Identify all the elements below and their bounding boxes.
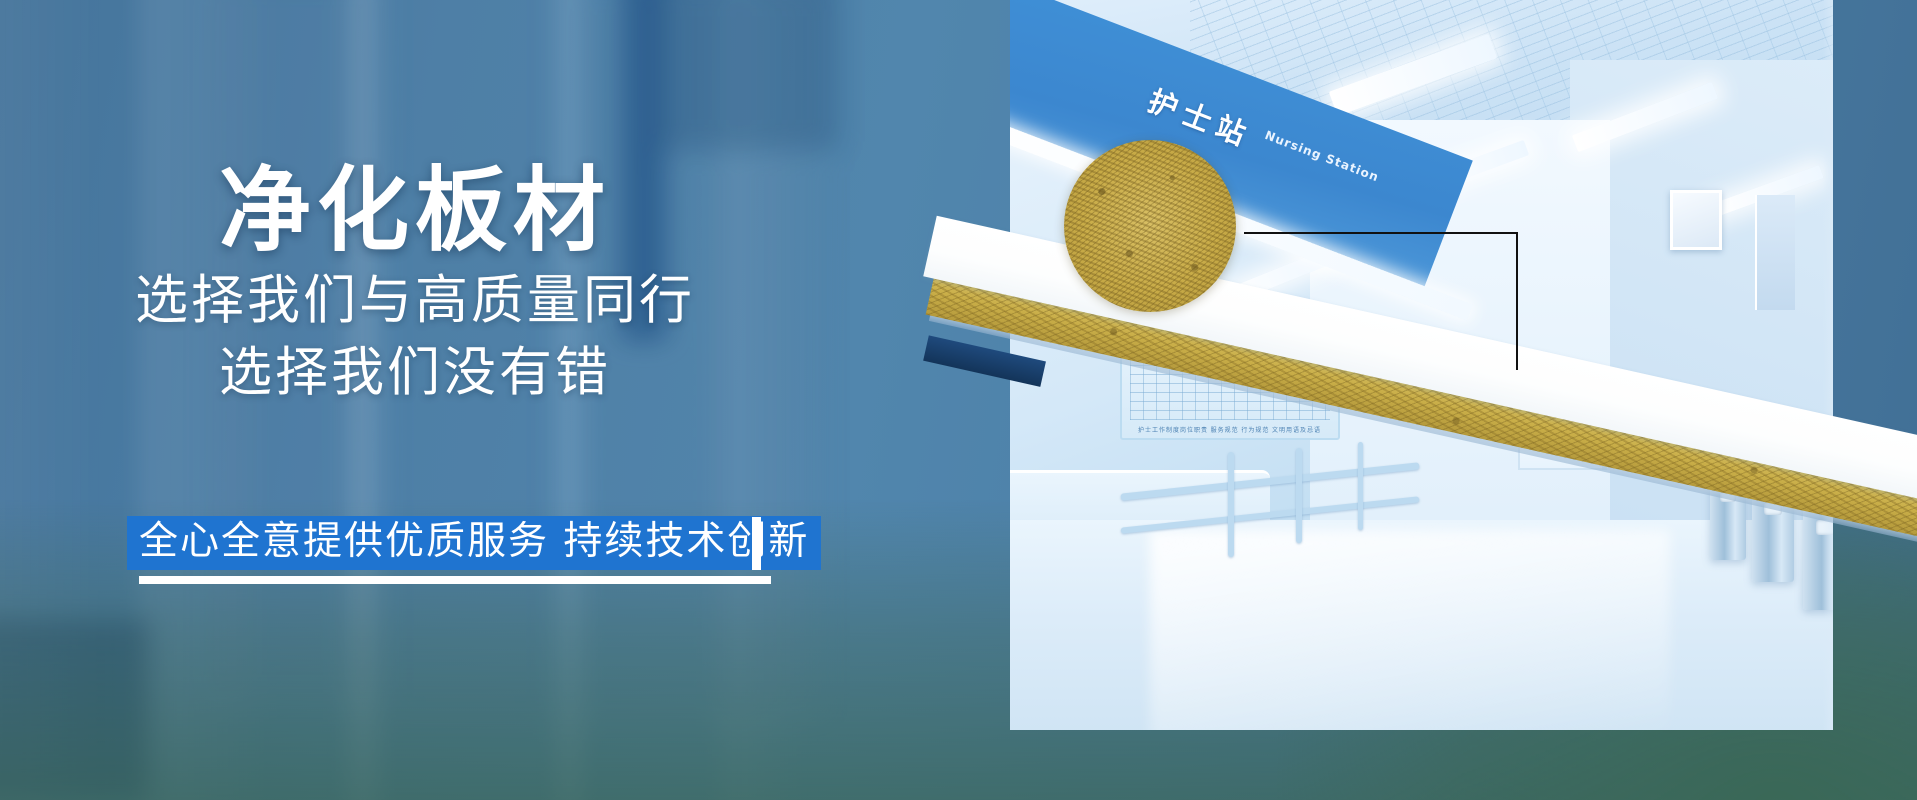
promo-banner: 净化板材 选择我们与高质量同行 选择我们没有错 全心全意提供优质服务 持续技术创… [0,0,1917,800]
floor-reflection [1150,530,1670,730]
tagline-group: 全心全意提供优质服务 持续技术创新 [127,516,821,570]
tagline-accent-bar [752,517,761,570]
tagline-underline [139,576,771,584]
page-title: 净化板材 [0,136,830,269]
tagline-bar: 全心全意提供优质服务 持续技术创新 [127,516,821,570]
subtitle-line-1: 选择我们与高质量同行 [0,258,830,334]
callout-line-vertical [1516,232,1518,370]
banner-text-block: 净化板材 选择我们与高质量同行 选择我们没有错 全心全意提供优质服务 持续技术创… [0,0,830,800]
callout-line-horizontal [1244,232,1518,234]
subtitle-line-2: 选择我们没有错 [0,330,830,406]
rockwool-texture-zoom-circle [1064,140,1236,312]
